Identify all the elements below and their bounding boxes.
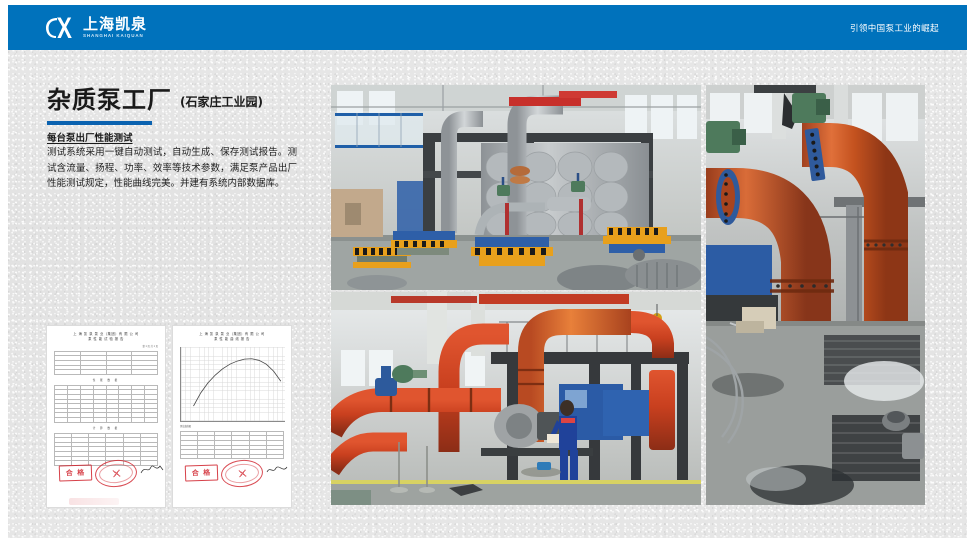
photo-pump-test-hall-tanks[interactable] xyxy=(331,85,701,290)
doc1-company-seal-icon xyxy=(94,458,139,489)
section-heading: 每台泵出厂性能测试 xyxy=(47,130,133,144)
doc-thumb-test-report-curve[interactable]: 上 海 凯 泉 泵 业（集团）有 限 公 司 泵 性 能 曲 线 报 告 测试曲… xyxy=(173,326,291,507)
doc1-section2-label: 计 算 数 据 xyxy=(54,426,158,430)
photo-1-graphic xyxy=(331,85,701,290)
photo-2-graphic xyxy=(331,292,701,505)
doc2-stamp-row: 合 格 xyxy=(177,459,291,493)
title-underline-rule xyxy=(47,121,152,125)
title-block: 杂质泵工厂 (石家庄工业园) xyxy=(47,88,263,125)
doc1-stamp-row: 合 格 xyxy=(51,459,165,493)
section-body-text: 测试系统采用一键自动测试，自动生成、保存测试报告。测试含流量、扬程、功率、效率等… xyxy=(47,145,297,192)
doc2-summary-table xyxy=(180,431,284,460)
page-subtitle: (石家庄工业园) xyxy=(180,93,263,112)
doc1-faint-mark xyxy=(69,498,119,505)
photo-3-graphic xyxy=(706,85,925,505)
doc2-title-line2: 泵 性 能 曲 线 报 告 xyxy=(180,337,284,342)
header-tagline: 引领中国泵工业的崛起 xyxy=(850,5,939,50)
page-title: 杂质泵工厂 xyxy=(47,88,172,112)
brand-name-en: SHANGHAI KAIQUAN xyxy=(83,34,147,39)
curve-plot-svg xyxy=(181,347,285,421)
header-bar: 上海凯泉 SHANGHAI KAIQUAN 引领中国泵工业的崛起 xyxy=(8,5,967,50)
brand-logo: 上海凯泉 SHANGHAI KAIQUAN xyxy=(44,14,147,42)
document-thumbnail-group: 上 海 凯 泉 泵 业（集团）有 限 公 司 泵 性 能 试 验 报 告 第 1… xyxy=(47,326,291,507)
doc1-header-table xyxy=(54,351,158,375)
doc1-page-count: 第 1 页 共 1 页 xyxy=(142,344,158,348)
doc-thumb-test-report-table[interactable]: 上 海 凯 泉 泵 业（集团）有 限 公 司 泵 性 能 试 验 报 告 第 1… xyxy=(47,326,165,507)
doc2-company-seal-icon xyxy=(220,458,265,489)
kaiquan-logo-icon xyxy=(44,15,78,41)
brand-logo-text: 上海凯泉 SHANGHAI KAIQUAN xyxy=(83,17,147,39)
doc1-signature xyxy=(139,461,165,477)
photo-pump-suction-elbow-pipes[interactable] xyxy=(706,85,925,505)
doc1-performance-table xyxy=(54,385,158,423)
brand-name-cn: 上海凯泉 xyxy=(83,17,147,32)
doc1-section1-label: 性 能 数 据 xyxy=(54,378,158,382)
performance-curve-chart xyxy=(180,347,285,422)
doc1-qualified-stamp: 合 格 xyxy=(59,464,93,481)
slide-root: 上海凯泉 SHANGHAI KAIQUAN 引领中国泵工业的崛起 杂质泵工厂 (… xyxy=(0,0,975,550)
doc1-title-line2: 泵 性 能 试 验 报 告 xyxy=(54,337,158,342)
doc2-chart-caption: 测试曲线图 xyxy=(180,424,284,428)
title-row: 杂质泵工厂 (石家庄工业园) xyxy=(47,88,263,112)
photo-pump-test-rig-red-piping[interactable] xyxy=(331,292,701,505)
doc2-signature xyxy=(265,461,291,477)
doc2-qualified-stamp: 合 格 xyxy=(185,464,219,481)
doc1-meta: 第 1 页 共 1 页 xyxy=(54,344,158,348)
